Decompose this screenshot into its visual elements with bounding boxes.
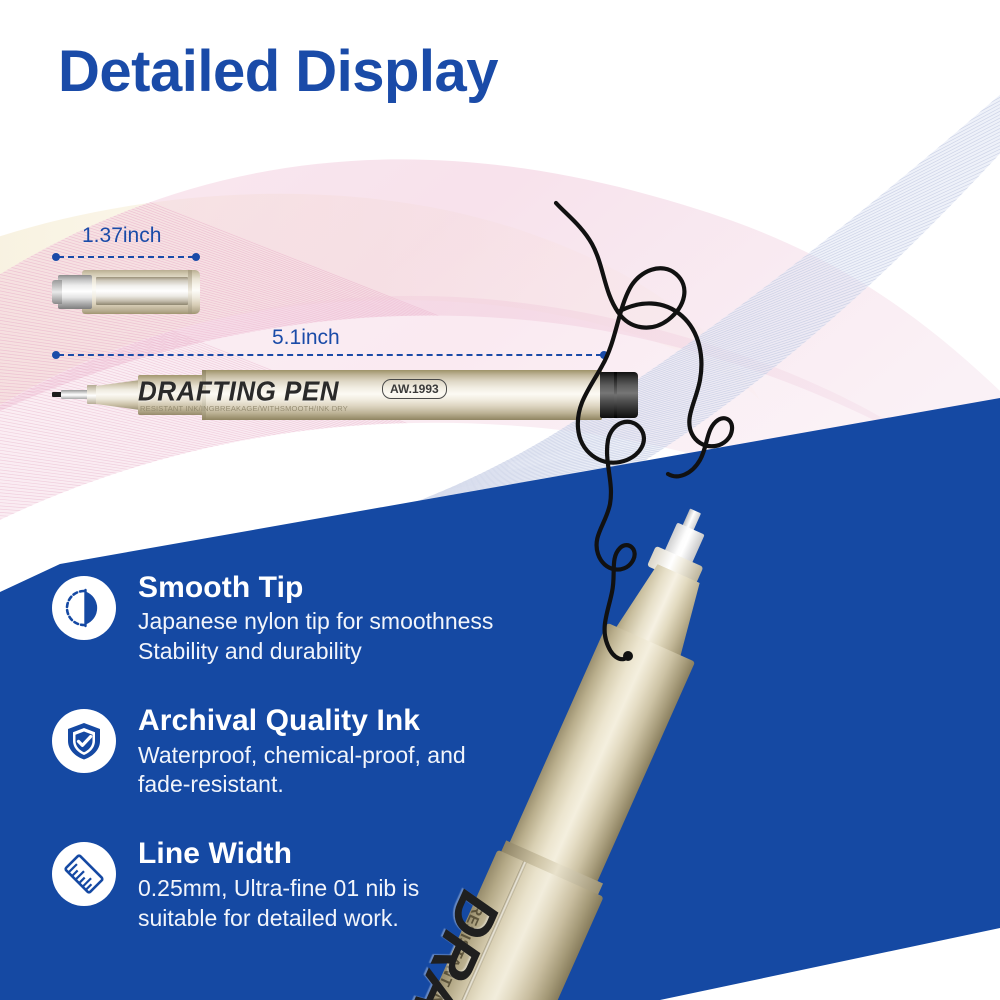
smooth-tip-icon: [52, 576, 116, 640]
feature-desc-line1: 0.25mm, Ultra-fine 01 nib is: [138, 874, 632, 904]
pen-end-cap-ring: [614, 372, 617, 418]
feature-title: Archival Quality Ink: [138, 703, 632, 738]
pen-cone: [96, 380, 140, 410]
feature-title: Line Width: [138, 836, 632, 871]
pen-nib-collar: [87, 385, 97, 404]
cap-metal-end: [58, 275, 92, 309]
cap-ring: [188, 270, 192, 314]
cap-dimension-label: 1.37inch: [82, 224, 161, 248]
pen-dimension-label: 5.1inch: [272, 326, 340, 350]
ruler-icon: [52, 842, 116, 906]
feature-item-line-width: Line Width 0.25mm, Ultra-fine 01 nib is …: [52, 834, 632, 933]
pen-feature-microtext: RESISTANT INK/INGBREAKAGE/WITHSMOOTH/INK…: [140, 404, 348, 413]
cap-window: [96, 277, 188, 305]
feature-text-archival-ink: Archival Quality Ink Waterproof, chemica…: [138, 701, 632, 800]
feature-desc-line2: fade-resistant.: [138, 770, 632, 800]
feature-desc-line1: Japanese nylon tip for smoothness: [138, 607, 632, 637]
pen-model-badge: AW.1993: [382, 379, 447, 399]
pen-end-cap: [600, 372, 638, 418]
pen-brand-text: DRAFTING PEN: [138, 375, 339, 408]
cap-dimension-arrow: [52, 256, 200, 258]
product-detail-banner: Detailed Display 1.37inch 5.1inch DRAFTI…: [0, 0, 1000, 1000]
feature-text-line-width: Line Width 0.25mm, Ultra-fine 01 nib is …: [138, 834, 632, 933]
feature-text-smooth-tip: Smooth Tip Japanese nylon tip for smooth…: [138, 568, 632, 667]
cap-clip-nub: [52, 280, 62, 304]
shield-check-icon: [52, 709, 116, 773]
feature-desc-line2: suitable for detailed work.: [138, 904, 632, 934]
pen-cap-image: [52, 268, 200, 316]
pen-nib: [61, 390, 89, 399]
feature-item-smooth-tip: Smooth Tip Japanese nylon tip for smooth…: [52, 568, 632, 667]
drafting-pen-image: DRAFTING PEN AW.1993 RESISTANT INK/INGBR…: [52, 366, 618, 424]
feature-desc-line2: Stability and durability: [138, 637, 632, 667]
page-title: Detailed Display: [58, 42, 498, 103]
feature-list: Smooth Tip Japanese nylon tip for smooth…: [52, 568, 632, 968]
feature-item-archival-ink: Archival Quality Ink Waterproof, chemica…: [52, 701, 632, 800]
feature-desc-line1: Waterproof, chemical-proof, and: [138, 741, 632, 771]
feature-title: Smooth Tip: [138, 570, 632, 605]
pen-dimension-arrow: [52, 354, 608, 356]
